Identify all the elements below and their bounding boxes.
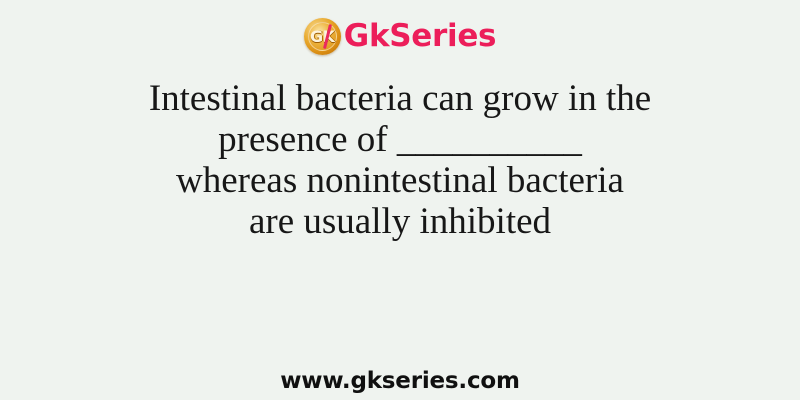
question-line: presence of __________ [40,119,760,160]
brand-name: GkSeries [344,21,496,52]
question-text: Intestinal bacteria can grow in the pres… [40,78,760,242]
gkseries-coin-logo-icon: GK [304,18,341,55]
question-line: Intestinal bacteria can grow in the [40,78,760,119]
question-line: whereas nonintestinal bacteria [40,160,760,201]
brand-logo[interactable]: GK GkSeries [0,12,800,60]
question-card: GK GkSeries Intestinal bacteria can grow… [0,0,800,400]
coin-label: GK [304,18,341,55]
question-line: are usually inhibited [40,201,760,242]
footer-website-url[interactable]: www.gkseries.com [280,368,520,394]
footer: www.gkseries.com [0,368,800,394]
